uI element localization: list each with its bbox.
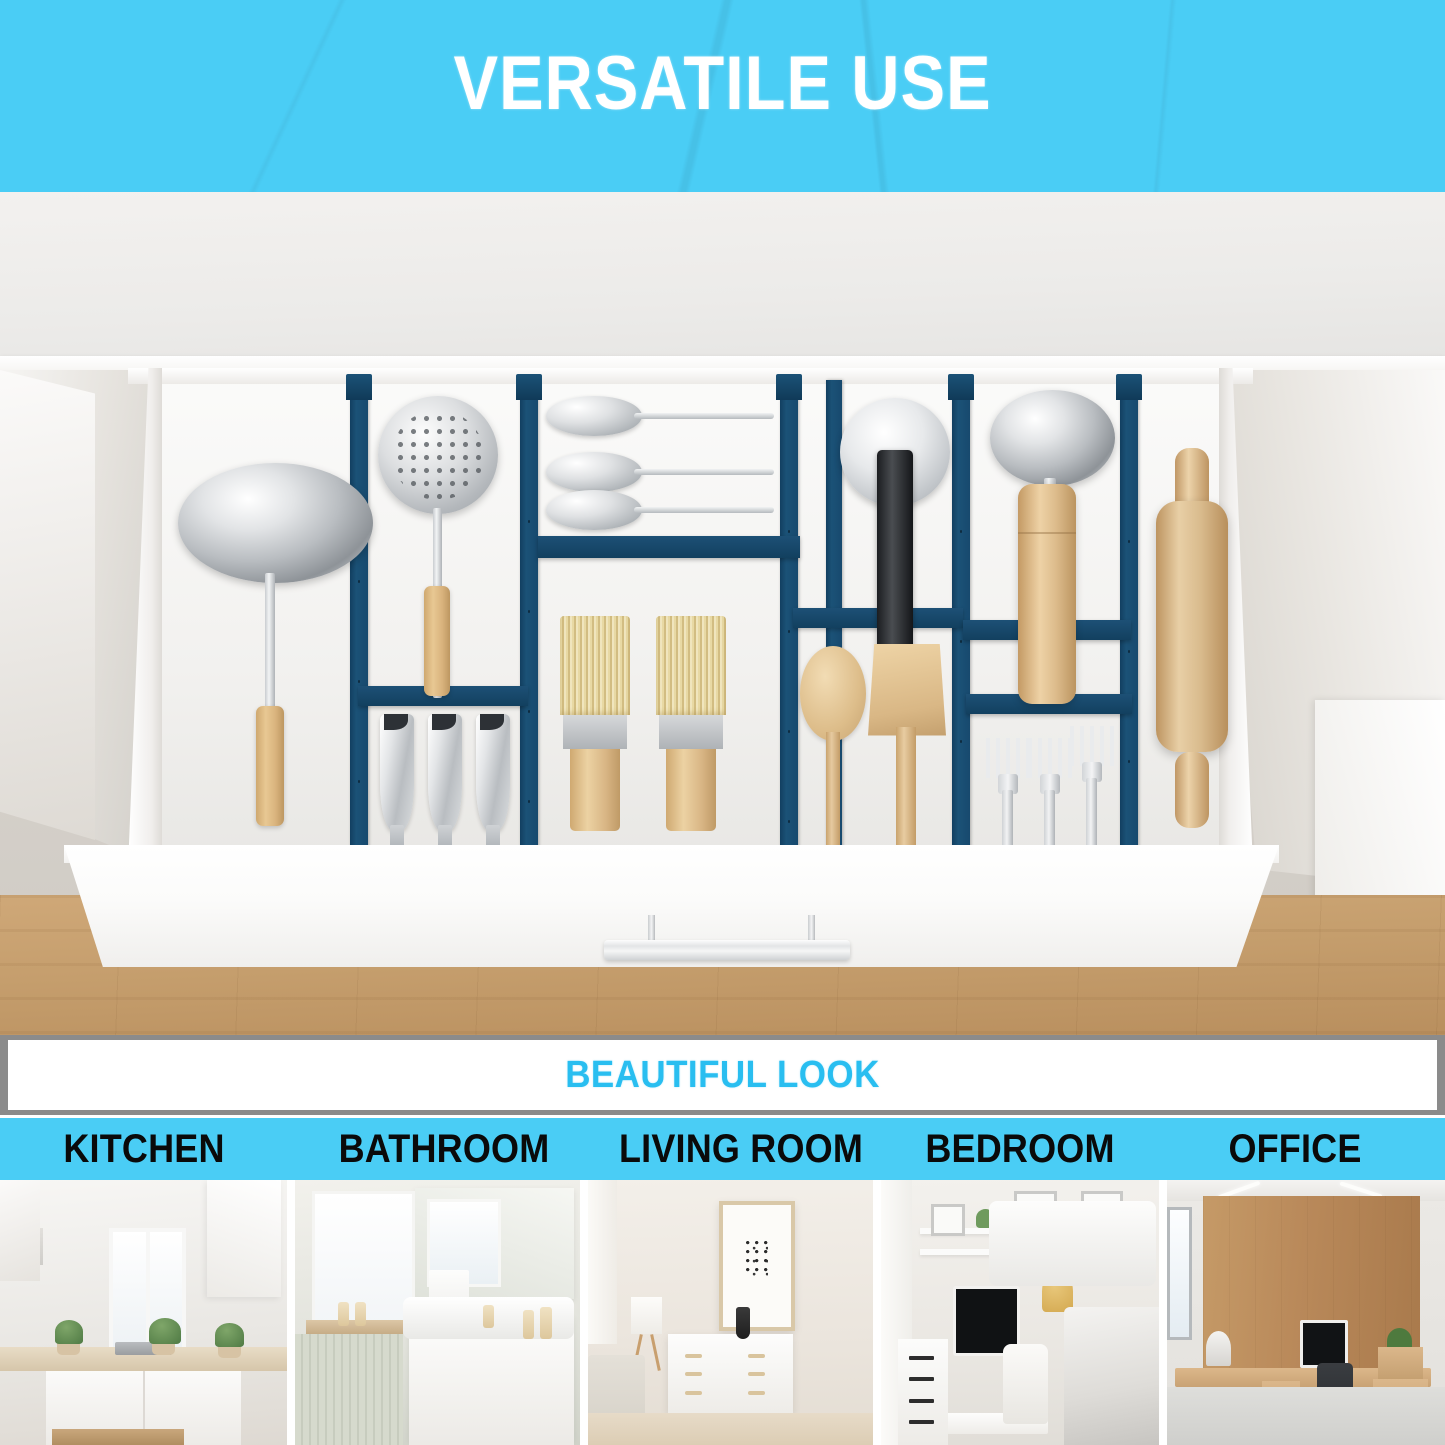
room-label-bathroom: BATHROOM xyxy=(314,1127,573,1171)
knife xyxy=(380,714,414,864)
wooden-spatula xyxy=(868,644,946,862)
drawer-pull xyxy=(685,1354,702,1358)
room-photo-living-room[interactable] xyxy=(588,1180,873,1445)
serving-spoon xyxy=(546,396,642,436)
drawer-pull xyxy=(909,1420,934,1424)
room-label-living-room: LIVING ROOM xyxy=(611,1127,870,1171)
bed xyxy=(1064,1307,1159,1445)
room-label-strip: KITCHEN BATHROOM LIVING ROOM BEDROOM OFF… xyxy=(0,1118,1445,1180)
upper-cabinet xyxy=(207,1180,282,1297)
beautiful-look-text: BEAUTIFUL LOOK xyxy=(65,1056,1380,1094)
skimmer-wood-grip xyxy=(424,586,450,696)
hero-title: VERSATILE USE xyxy=(87,46,1359,122)
ladle-wood-grip xyxy=(256,706,284,826)
plant-icon xyxy=(149,1318,181,1345)
soap-bottle xyxy=(523,1310,534,1339)
drawer-pull xyxy=(909,1399,934,1403)
soap-bottle xyxy=(355,1302,366,1326)
pastry-brush xyxy=(560,616,630,831)
marble-vein xyxy=(620,192,1080,322)
divider-clip xyxy=(948,374,974,400)
skimmer-holes xyxy=(392,410,484,500)
pedestal-drawers xyxy=(1378,1347,1422,1379)
soap-bottle xyxy=(483,1305,494,1329)
rolling-pin xyxy=(1156,448,1228,828)
skimmer-head xyxy=(378,396,498,514)
serving-spoon xyxy=(546,490,642,530)
open-drawer xyxy=(128,368,1253,868)
product-infographic: VERSATILE USE xyxy=(0,0,1445,1445)
divider-horizontal xyxy=(538,536,800,558)
plant-icon xyxy=(55,1320,84,1344)
drawer-left-wall xyxy=(128,368,162,868)
knife xyxy=(428,714,462,864)
divider-clip xyxy=(776,374,802,400)
drawer-handle-bar[interactable] xyxy=(604,940,850,960)
drawer-pull xyxy=(909,1377,934,1381)
curtain xyxy=(588,1180,617,1344)
wooden-mallet xyxy=(1018,484,1076,704)
beautiful-look-inner: BEAUTIFUL LOOK xyxy=(8,1040,1437,1110)
drawer-pull xyxy=(685,1372,702,1376)
soap-bottle xyxy=(338,1302,349,1326)
drawer-pull xyxy=(748,1391,765,1395)
room-photo-kitchen[interactable] xyxy=(0,1180,287,1445)
soap-bottle xyxy=(540,1307,551,1339)
desk-drawers xyxy=(898,1339,948,1445)
small-ladle-bowl xyxy=(990,390,1115,486)
window xyxy=(1167,1207,1192,1340)
room-photo-office[interactable] xyxy=(1167,1180,1445,1445)
upper-cabinet xyxy=(0,1180,40,1281)
room-label-bedroom: BEDROOM xyxy=(890,1127,1149,1171)
desk-chair xyxy=(1003,1344,1047,1424)
divider-vertical xyxy=(350,380,368,864)
room-photo-bathroom[interactable] xyxy=(295,1180,580,1445)
divider-clip xyxy=(346,374,372,400)
drawer-back-wall xyxy=(128,368,1253,384)
wall-panelling xyxy=(295,1334,403,1445)
cabinet-left-edge xyxy=(0,370,95,840)
desk-lamp xyxy=(1206,1331,1231,1365)
room-label-kitchen: KITCHEN xyxy=(14,1127,273,1171)
drawer-handle-post xyxy=(648,915,655,941)
framed-art xyxy=(931,1204,965,1237)
beautiful-look-band: BEAUTIFUL LOOK xyxy=(0,1035,1445,1115)
living-room-floor xyxy=(588,1413,873,1445)
drawer-pull xyxy=(685,1391,702,1395)
plant-icon xyxy=(215,1323,244,1347)
marble-vein xyxy=(1040,192,1445,362)
drawer-pull xyxy=(909,1356,934,1360)
divider-clip xyxy=(516,374,542,400)
table-lamp-shade xyxy=(631,1297,662,1334)
monitor xyxy=(1300,1320,1348,1368)
kitchen-floor xyxy=(52,1429,184,1445)
ladle-bowl xyxy=(178,463,373,583)
hero-banner: VERSATILE USE xyxy=(0,0,1445,192)
drawer-handle-post xyxy=(808,915,815,941)
drawer-pull xyxy=(748,1354,765,1358)
wooden-spoon xyxy=(800,646,866,861)
room-photo-bedroom[interactable] xyxy=(881,1180,1159,1445)
divider-clip xyxy=(1116,374,1142,400)
pastry-brush xyxy=(656,616,726,831)
drawer-pull xyxy=(748,1372,765,1376)
marble-countertop xyxy=(0,192,1445,382)
divider-vertical xyxy=(520,380,538,864)
knife xyxy=(476,714,510,864)
office-floor xyxy=(1167,1387,1445,1445)
room-label-office: OFFICE xyxy=(1165,1127,1424,1171)
serving-spoon xyxy=(546,452,642,492)
vase xyxy=(736,1307,750,1339)
framed-art xyxy=(719,1201,795,1331)
pillow xyxy=(989,1201,1156,1286)
room-photo-row xyxy=(0,1180,1445,1445)
